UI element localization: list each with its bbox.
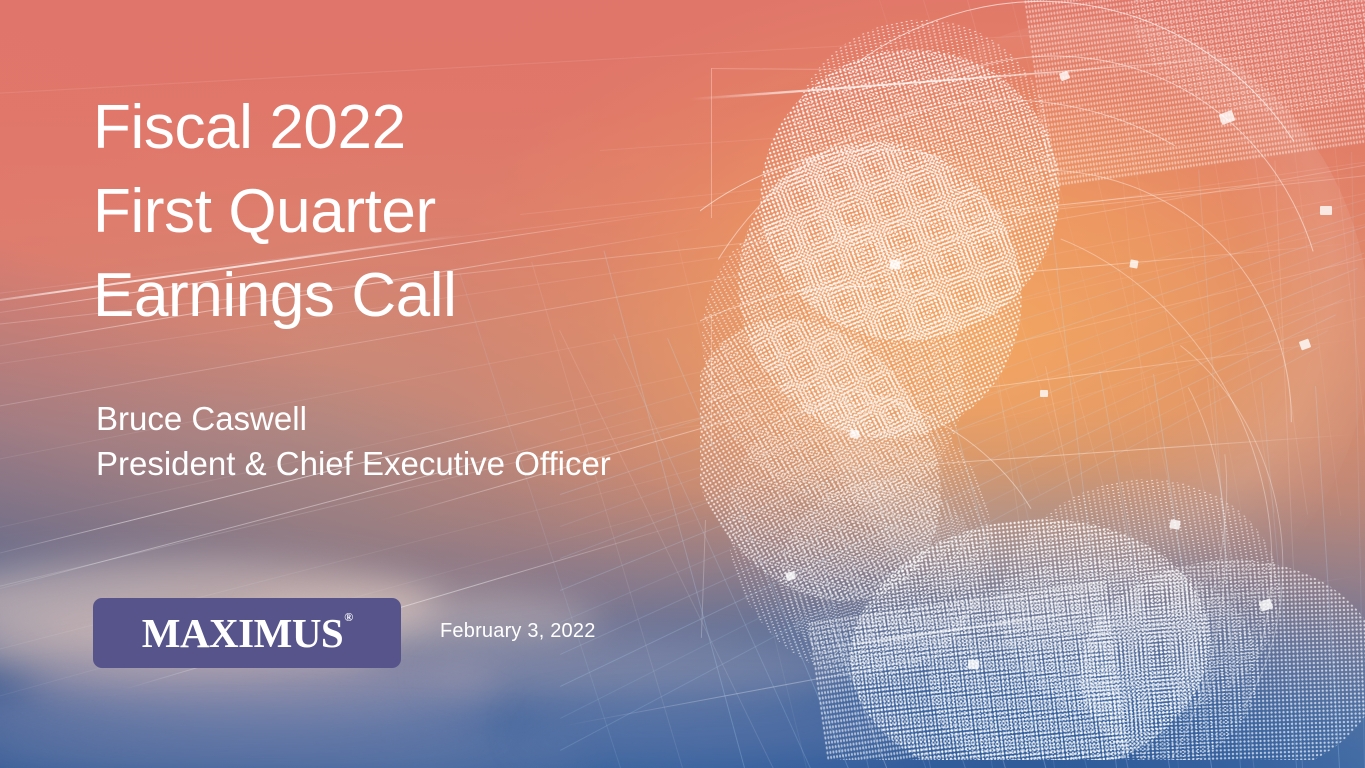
logo-wordmark: MAXIMUS® xyxy=(142,613,352,654)
title-slide: Fiscal 2022 First Quarter Earnings Call … xyxy=(0,0,1365,768)
page-title: Fiscal 2022 First Quarter Earnings Call xyxy=(93,86,733,338)
slide-content: Fiscal 2022 First Quarter Earnings Call … xyxy=(0,0,1365,768)
registered-trademark-icon: ® xyxy=(344,611,353,623)
presenter-block: Bruce Caswell President & Chief Executiv… xyxy=(96,396,816,486)
maximus-logo: MAXIMUS® xyxy=(93,598,401,668)
logo-wordmark-text: MAXIMUS xyxy=(142,610,343,656)
presentation-date: February 3, 2022 xyxy=(440,620,596,643)
